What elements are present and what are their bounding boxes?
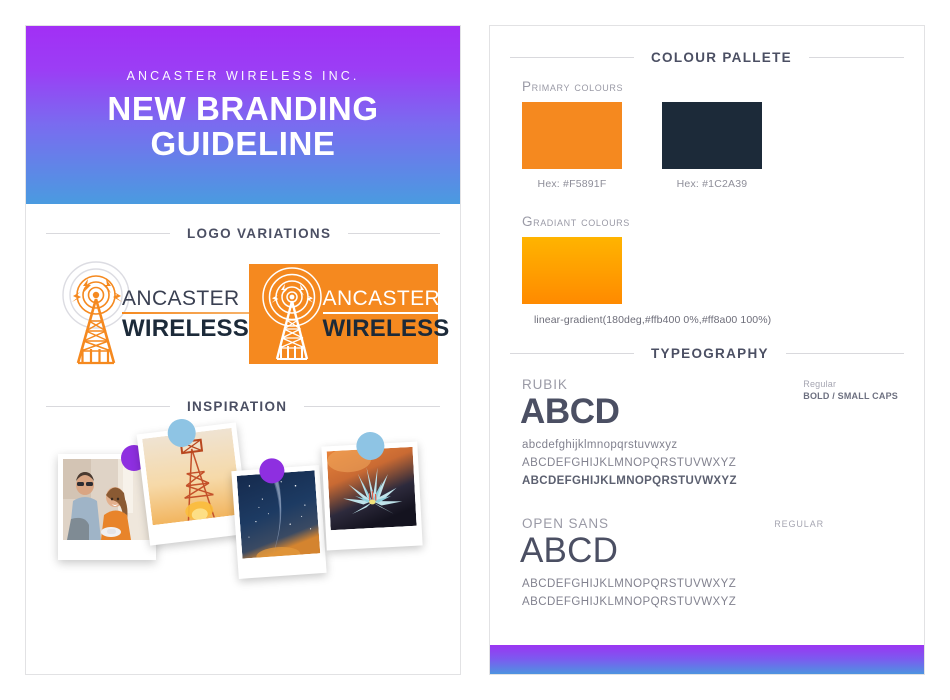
divider-right-inspiration xyxy=(304,406,440,407)
inspiration-heading-row: INSPIRATION xyxy=(46,399,440,414)
logo-variation-orange: ANCASTER WIRELESS xyxy=(249,264,438,364)
logo-variations-heading: LOGO VARIATIONS xyxy=(170,226,348,241)
colour-palette-heading: COLOUR PALLETE xyxy=(634,50,809,65)
inspiration-photo-stage xyxy=(26,422,460,602)
logo-variations-section: LOGO VARIATIONS xyxy=(26,204,460,369)
page-title-line-2: GUIDELINE xyxy=(107,127,378,162)
tower-mark-spacer-orange xyxy=(249,264,327,364)
company-name: ANCASTER WIRELESS INC. xyxy=(127,69,360,83)
orange-gradient-swatch xyxy=(522,237,622,304)
navy-swatch-hex: Hex: #1C2A39 xyxy=(662,178,762,190)
branding-guideline-right-page: COLOUR PALLETE Primary Colours Hex: #F58… xyxy=(489,25,925,675)
rubik-weight-labels: Regular BOLD / SMALL CAPS xyxy=(803,379,898,401)
typography-section: TYPEOGRAPHY Regular BOLD / SMALL CAPS RU… xyxy=(490,326,924,612)
orange-swatch-item: Hex: #F5891F xyxy=(522,102,622,190)
night-sky-milkyway-photo xyxy=(237,470,321,558)
wordmark-ancaster-white: ANCASTER xyxy=(323,288,450,312)
open-sans-uppercase-line-1: ABCDEFGHIJKLMNOPQRSTUVWXYZ xyxy=(522,576,892,594)
divider-left-typography xyxy=(510,353,634,354)
logo-variation-list: ANCASTER WIRELESS xyxy=(26,259,460,369)
inspiration-section: INSPIRATION xyxy=(26,369,460,602)
divider-left xyxy=(46,233,170,234)
page-title-line-1: NEW BRANDING xyxy=(107,92,378,127)
wordmark-wireless: WIRELESS xyxy=(122,314,249,341)
colour-palette-section: COLOUR PALLETE Primary Colours Hex: #F58… xyxy=(490,26,924,326)
open-sans-family-name: OPEN SANS xyxy=(522,516,892,531)
wordmark-wireless-dark: WIRELESS xyxy=(323,314,450,341)
divider-right xyxy=(348,233,440,234)
wordmark-ancaster: ANCASTER xyxy=(122,288,249,312)
navy-swatch xyxy=(662,102,762,169)
divider-left-palette xyxy=(510,57,634,58)
rubik-uppercase-line: ABCDEFGHIJKLMNOPQRSTUVWXYZ xyxy=(522,455,892,473)
orange-swatch-hex: Hex: #F5891F xyxy=(522,178,622,190)
divider-right-typography xyxy=(786,353,904,354)
divider-left-inspiration xyxy=(46,406,170,407)
logo-wordmark-light: ANCASTER WIRELESS xyxy=(122,288,249,341)
page-title: NEW BRANDING GUIDELINE xyxy=(107,92,378,162)
logo-wordmark-orange: ANCASTER WIRELESS xyxy=(323,288,450,341)
family-gaming-photo xyxy=(63,459,151,540)
primary-swatch-row: Hex: #F5891F Hex: #1C2A39 xyxy=(522,102,924,190)
inspiration-heading: INSPIRATION xyxy=(170,399,304,414)
rubik-weight-regular: Regular xyxy=(803,379,898,389)
branding-guideline-left-page: ANCASTER WIRELESS INC. NEW BRANDING GUID… xyxy=(25,25,461,675)
tower-mark-spacer xyxy=(48,259,126,369)
logo-variation-light: ANCASTER WIRELESS xyxy=(48,259,235,369)
open-sans-sample: ABCD xyxy=(520,533,892,568)
logo-variations-heading-row: LOGO VARIATIONS xyxy=(46,226,440,241)
gradient-colours-label: Gradiant Colours xyxy=(522,214,924,229)
open-sans-weight-regular: REGULAR xyxy=(774,519,824,529)
bottom-gradient-bar xyxy=(490,645,924,674)
cover-header: ANCASTER WIRELESS INC. NEW BRANDING GUID… xyxy=(26,26,460,204)
logo-lockup-light: ANCASTER WIRELESS xyxy=(48,259,235,369)
orange-swatch xyxy=(522,102,622,169)
typeface-block-open-sans: REGULAR OPEN SANS ABCD ABCDEFGHIJKLMNOPQ… xyxy=(522,516,892,612)
list-item xyxy=(321,442,422,551)
typography-heading-row: TYPEOGRAPHY xyxy=(510,346,904,361)
divider-right-palette xyxy=(809,57,904,58)
primary-colours-label: Primary Colours xyxy=(522,79,924,94)
rubik-lowercase-line: abcdefghijklmnopqrstuvwxyz xyxy=(522,437,892,455)
rubik-weight-bold: BOLD / SMALL CAPS xyxy=(803,391,898,401)
logo-lockup-orange: ANCASTER WIRELESS xyxy=(249,264,438,364)
navy-swatch-item: Hex: #1C2A39 xyxy=(662,102,762,190)
rubik-uppercase-bold-line: ABCDEFGHIJKLMNOPQRSTUVWXYZ xyxy=(522,473,892,491)
open-sans-uppercase-line-2: ABCDEFGHIJKLMNOPQRSTUVWXYZ xyxy=(522,594,892,612)
gradient-caption: linear-gradient(180deg,#ffb400 0%,#ff8a0… xyxy=(534,314,924,326)
list-item xyxy=(231,465,326,579)
colour-palette-heading-row: COLOUR PALLETE xyxy=(510,50,904,65)
typeface-block-rubik: Regular BOLD / SMALL CAPS RUBIK ABCD abc… xyxy=(522,377,892,490)
open-sans-weight-labels: REGULAR xyxy=(774,519,824,529)
typography-heading: TYPEOGRAPHY xyxy=(634,346,786,361)
